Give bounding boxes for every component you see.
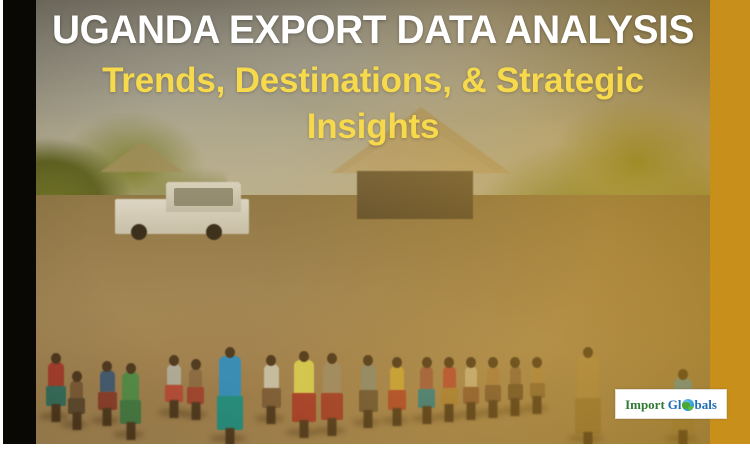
- ground-shadow: [113, 431, 144, 438]
- ground-shadow: [91, 417, 120, 424]
- logo-text-gl: Gl: [668, 397, 682, 412]
- person-figure: [167, 364, 181, 402]
- ground-shadow: [39, 413, 69, 420]
- right-amber-bar: [710, 0, 750, 444]
- person-lower-garment: [46, 386, 66, 406]
- person-head: [299, 351, 309, 362]
- person-head: [72, 371, 82, 382]
- person-lower-garment: [262, 388, 281, 408]
- person-head: [532, 357, 542, 368]
- person-figure: [361, 364, 376, 412]
- person-figure: [48, 362, 64, 406]
- person-head: [169, 355, 179, 366]
- person-head: [444, 357, 454, 368]
- person-figure: [465, 366, 477, 404]
- left-black-bar: [3, 0, 36, 444]
- person-lower-garment: [292, 393, 316, 422]
- person-head: [266, 355, 276, 366]
- ground-shadow: [665, 435, 697, 442]
- person-figure: [510, 366, 521, 400]
- person-head: [191, 359, 201, 370]
- person-lower-garment: [321, 393, 343, 420]
- ground-shadow: [381, 417, 409, 424]
- person-head: [466, 357, 476, 368]
- hut-roof-highlight: [341, 121, 497, 173]
- person-figure: [577, 356, 599, 434]
- person-figure: [70, 380, 83, 414]
- person-head: [583, 347, 593, 358]
- person-figure: [264, 364, 279, 408]
- person-head: [422, 357, 432, 368]
- person-head: [327, 353, 337, 364]
- ground-shadow: [61, 421, 88, 428]
- person-figure: [487, 366, 499, 402]
- person-figure: [323, 362, 341, 420]
- import-globals-logo[interactable]: Import Glbals: [615, 389, 727, 419]
- globe-icon: [682, 399, 694, 411]
- ground-shadow: [352, 419, 381, 426]
- person-figure: [219, 356, 241, 430]
- person-head: [51, 353, 61, 364]
- person-lower-garment: [120, 400, 141, 424]
- person-head: [225, 347, 235, 358]
- person-lower-garment: [217, 396, 243, 430]
- thatched-hut-far: [100, 142, 184, 172]
- ground-shadow: [180, 411, 207, 418]
- person-figure: [294, 360, 314, 422]
- person-figure: [122, 372, 139, 424]
- person-head: [126, 363, 136, 374]
- person-figure: [420, 366, 433, 408]
- person-head: [510, 357, 520, 368]
- person-head: [488, 357, 498, 368]
- person-figure: [189, 368, 202, 404]
- person-head: [678, 369, 688, 380]
- title-slide: UGANDA EXPORT DATA ANALYSIS Trends, Dest…: [0, 0, 750, 450]
- person-figure: [390, 366, 404, 410]
- person-lower-garment: [359, 390, 378, 412]
- person-figure: [100, 370, 115, 410]
- logo-text-globals: Glbals: [668, 398, 717, 411]
- person-head: [363, 355, 373, 366]
- logo-text-import: Import: [625, 398, 665, 411]
- person-lower-garment: [388, 390, 406, 410]
- ground-shadow: [314, 427, 346, 434]
- person-figure: [532, 366, 543, 398]
- ground-shadow: [568, 435, 604, 442]
- person-lower-garment: [575, 398, 601, 434]
- ground-shadow: [210, 435, 246, 442]
- ground-shadow: [501, 407, 526, 414]
- ground-shadow: [255, 415, 284, 422]
- logo-text-bals: bals: [695, 397, 717, 412]
- ground-shadow: [523, 405, 548, 412]
- person-figure: [443, 366, 456, 406]
- background-photo: [3, 0, 748, 444]
- person-head: [102, 361, 112, 372]
- person-head: [392, 357, 402, 368]
